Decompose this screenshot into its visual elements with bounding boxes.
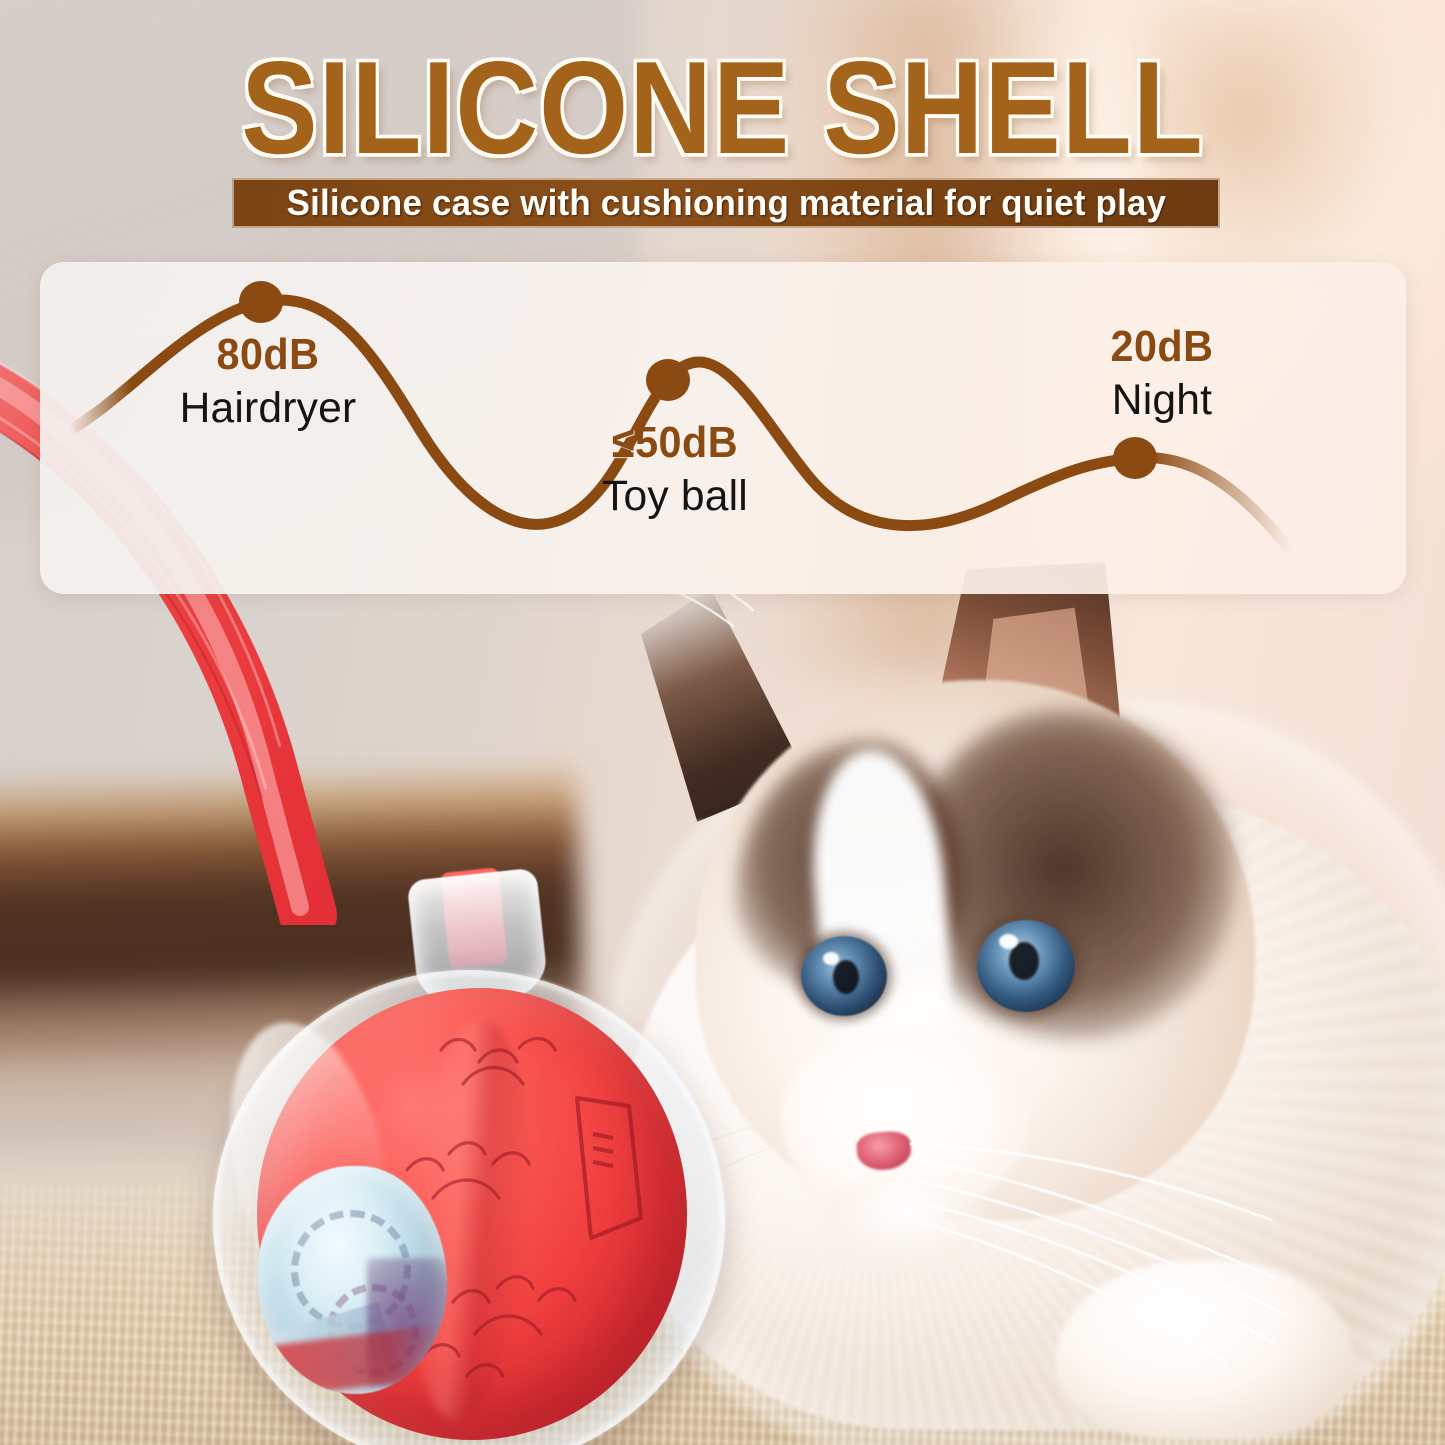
page-title: SILICONE SHELL (0, 42, 1445, 174)
cat-eye-glint-left (823, 952, 839, 965)
cat-paw (1055, 1260, 1355, 1440)
wave-label-night: 20dB Night (1062, 322, 1262, 425)
wave-label-hairdryer: 80dB Hairdryer (168, 330, 368, 433)
cat-face-mask-right (905, 710, 1235, 1040)
wave-name-hairdryer: Hairdryer (169, 384, 367, 433)
wave-db-toyball: ≤50dB (581, 418, 769, 468)
subtitle-bar: Silicone case with cushioning material f… (232, 178, 1220, 228)
subtitle-text: Silicone case with cushioning material f… (286, 182, 1166, 224)
cat-pupil-left (833, 960, 859, 994)
wave-label-toyball: ≤50dB Toy ball (575, 418, 775, 521)
cat-eye-glint-right (999, 934, 1018, 949)
infographic-canvas: 80dB Hairdryer ≤50dB Toy ball 20dB Night… (0, 0, 1445, 1445)
cat-chin (821, 1178, 991, 1270)
ball-glass-rim (213, 970, 725, 1445)
wave-name-toyball: Toy ball (576, 472, 774, 521)
wave-db-night: 20dB (1068, 322, 1256, 372)
wave-db-hairdryer: 80dB (174, 330, 362, 380)
cat-toy-ball (195, 870, 755, 1430)
wave-name-night: Night (1063, 376, 1261, 425)
